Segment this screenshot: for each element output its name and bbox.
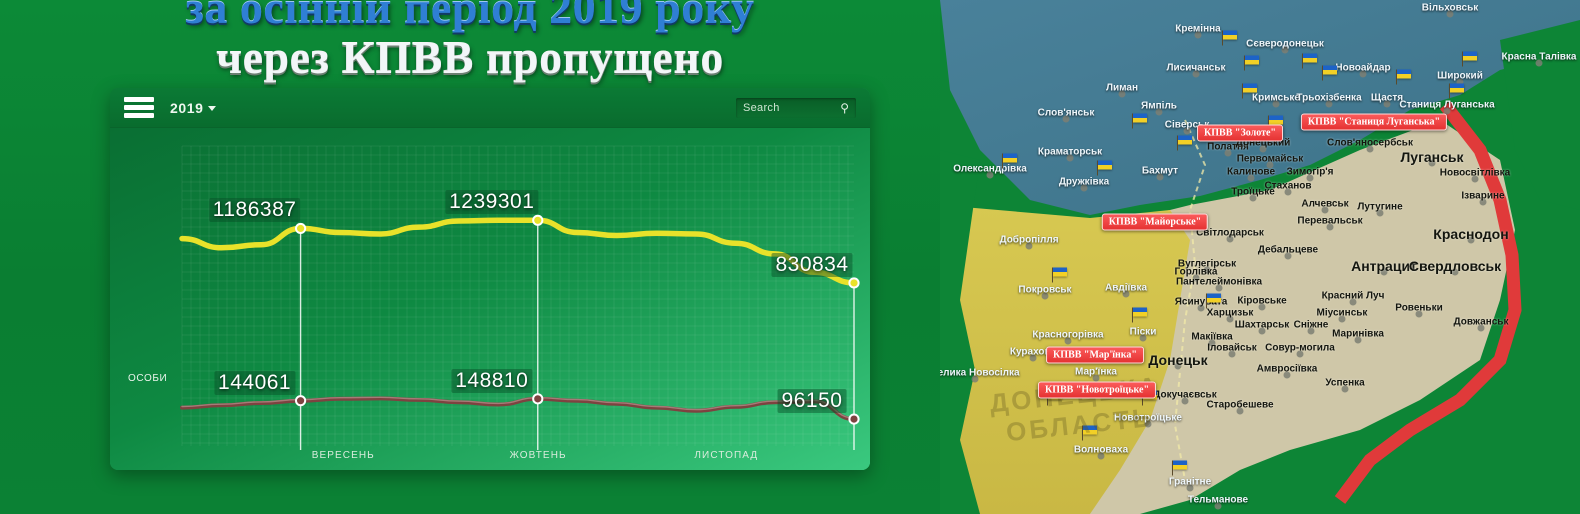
city-label-Слов'яносербськ: Слов'яносербськ <box>1327 138 1413 149</box>
city-label-Красний Луч: Красний Луч <box>1322 291 1385 302</box>
chart-toolbar: 2019 Search ⚲ <box>110 88 870 128</box>
city-label-Добропілля: Добропілля <box>999 235 1058 246</box>
kpvv-marker-4[interactable]: КПВВ "Новотроїцьке" <box>1038 382 1156 399</box>
city-label-Трьохізбенка: Трьохізбенка <box>1296 93 1361 104</box>
left-pane: за осінній період 2019 року через КПВВ п… <box>0 0 940 514</box>
data-label-transport-листопад: 96150 <box>778 389 847 413</box>
city-label-Ямпіль: Ямпіль <box>1141 101 1177 112</box>
ukraine-flag-icon-12 <box>1133 308 1147 317</box>
chart-svg <box>110 128 870 470</box>
city-label-Гранітне: Гранітне <box>1169 477 1211 488</box>
city-label-Новосвітлівка: Новосвітлівка <box>1440 168 1510 179</box>
city-label-Вільховськ: Вільховськ <box>1422 3 1479 14</box>
ukraine-flag-icon-10 <box>1450 84 1464 93</box>
headline-line-1: за осінній період 2019 року <box>0 0 940 30</box>
year-dropdown[interactable]: 2019 <box>170 100 216 116</box>
city-label-Калинове: Калинове <box>1227 167 1275 178</box>
ukraine-flag-icon-15 <box>1207 294 1221 303</box>
city-label-Краснодон: Краснодон <box>1433 226 1508 242</box>
ukraine-flag-icon-1 <box>1303 54 1317 63</box>
city-label-Тельманове: Тельманове <box>1188 495 1248 506</box>
city-label-Красногорівка: Красногорівка <box>1032 330 1103 341</box>
ukraine-flag-icon-14 <box>1173 461 1187 470</box>
ukraine-flag-icon-2 <box>1243 84 1257 93</box>
city-label-Волноваха: Волноваха <box>1074 445 1128 456</box>
city-label-Міусинськ: Міусинськ <box>1317 308 1368 319</box>
city-label-Харцизьк: Харцизьк <box>1207 308 1254 319</box>
city-label-Кремінна: Кремінна <box>1175 24 1220 35</box>
city-label-Широкий: Широкий <box>1437 71 1483 82</box>
city-label-Станиця Луганська: Станиця Луганська <box>1399 100 1494 111</box>
city-label-Ізварине: Ізварине <box>1461 191 1504 202</box>
city-label-Кіровське: Кіровське <box>1237 296 1286 307</box>
chart-card: 2019 Search ⚲ <box>110 88 870 470</box>
chevron-down-icon <box>208 106 216 111</box>
chart-plot-area: ОСОБИ ТРАНСПОРТ ВЕРЕСЕНЬЖОВТЕНЬЛИСТОПАД … <box>110 128 870 470</box>
data-label-persons-листопад: 830834 <box>771 253 852 277</box>
ukraine-flag-icon-7 <box>1003 154 1017 163</box>
city-label-Покровськ: Покровськ <box>1018 285 1071 296</box>
conflict-map: КреміннаСєверодонецькЛисичанськНовоайдар… <box>940 0 1580 514</box>
kpvv-marker-2[interactable]: КПВВ "Майорське" <box>1102 214 1208 231</box>
city-label-Дебальцеве: Дебальцеве <box>1258 245 1318 256</box>
ukraine-flag-icon-17 <box>1463 52 1477 61</box>
search-input[interactable]: Search ⚲ <box>736 98 856 118</box>
city-label-Авдіївка: Авдіївка <box>1105 283 1147 294</box>
city-label-Кримське: Кримське <box>1252 93 1300 104</box>
city-label-Новоайдар: Новоайдар <box>1335 63 1390 74</box>
month-label-1: ЖОВТЕНЬ <box>510 450 567 461</box>
data-label-transport-вересень: 144061 <box>214 371 295 395</box>
kpvv-marker-1[interactable]: КПВВ "Станиця Луганська" <box>1301 114 1447 131</box>
city-label-Іловайськ: Іловайськ <box>1207 343 1257 354</box>
kpvv-marker-0[interactable]: КПВВ "Золоте" <box>1197 125 1283 142</box>
ukraine-flag-icon-4 <box>1397 70 1411 79</box>
page-title: за осінній період 2019 року через КПВВ п… <box>0 0 940 84</box>
city-label-Свердловськ: Свердловськ <box>1409 258 1501 274</box>
city-label-Лиман: Лиман <box>1106 83 1138 94</box>
city-label-Успенка: Успенка <box>1325 378 1364 389</box>
ukraine-flag-icon-6 <box>1178 136 1192 145</box>
search-icon[interactable]: ⚲ <box>840 101 849 115</box>
city-label-Антрацит: Антрацит <box>1351 258 1417 274</box>
search-placeholder: Search <box>743 102 780 114</box>
data-label-persons-жовтень: 1239301 <box>445 190 538 214</box>
ukraine-flag-icon-8 <box>1098 161 1112 170</box>
city-label-Довжанськ: Довжанськ <box>1454 317 1509 328</box>
city-label-Донецьк: Донецьк <box>1148 352 1207 368</box>
city-label-Первомайськ: Первомайськ <box>1237 154 1304 165</box>
city-label-Красна Талівка: Красна Талівка <box>1502 52 1577 63</box>
city-label-Совур-могила: Совур-могила <box>1265 343 1335 354</box>
city-label-Слов'янськ: Слов'янськ <box>1038 108 1095 119</box>
city-label-Сніжне: Сніжне <box>1294 320 1329 331</box>
city-label-Сєверодонецьк: Сєверодонецьк <box>1246 39 1324 50</box>
kpvv-marker-3[interactable]: КПВВ "Мар'їнка" <box>1046 347 1144 364</box>
ukraine-flag-icon-0 <box>1223 31 1237 40</box>
city-label-Пантелеймонівка: Пантелеймонівка <box>1176 277 1262 288</box>
ukraine-flag-icon-16 <box>1269 116 1283 125</box>
hamburger-menu-icon[interactable] <box>124 97 154 118</box>
month-label-2: ЛИСТОПАД <box>694 450 758 461</box>
city-label-Шахтарськ: Шахтарськ <box>1235 320 1289 331</box>
city-label-Краматорськ: Краматорськ <box>1038 147 1102 158</box>
city-label-Макіївка: Макіївка <box>1191 332 1232 343</box>
city-label-Бахмут: Бахмут <box>1142 166 1178 177</box>
ukraine-flag-icon-5 <box>1133 114 1147 123</box>
month-label-0: ВЕРЕСЕНЬ <box>312 450 375 461</box>
ukraine-flag-icon-3 <box>1323 66 1337 75</box>
year-dropdown-label: 2019 <box>170 100 204 116</box>
city-label-Зимогір'я: Зимогір'я <box>1286 167 1333 178</box>
city-label-Піски: Піски <box>1130 327 1157 338</box>
ukraine-flag-icon-11 <box>1053 268 1067 277</box>
headline-line-2: через КПВВ пропущено <box>0 32 940 84</box>
data-label-persons-вересень: 1186387 <box>209 198 301 222</box>
city-label-Щастя: Щастя <box>1371 93 1403 104</box>
city-label-Перевальськ: Перевальськ <box>1297 216 1362 227</box>
city-label-Маринівка: Маринівка <box>1332 329 1384 340</box>
series-label-persons: ОСОБИ <box>128 373 167 384</box>
city-label-Олександрівка: Олександрівка <box>953 164 1027 175</box>
city-label-Дружківка: Дружківка <box>1059 177 1109 188</box>
ukraine-flag-icon-9 <box>1245 56 1259 65</box>
city-label-Ровеньки: Ровеньки <box>1395 303 1442 314</box>
city-label-Старобешеве: Старобешеве <box>1206 400 1273 411</box>
city-label-Амвросіївка: Амвросіївка <box>1257 364 1318 375</box>
city-label-Велика Новосілка: Велика Новосілка <box>940 368 1020 379</box>
city-label-Луганськ: Луганськ <box>1400 149 1463 165</box>
data-label-transport-жовтень: 148810 <box>451 369 532 393</box>
city-label-Алчевськ: Алчевськ <box>1301 199 1348 210</box>
city-label-Троїцьке: Троїцьке <box>1231 187 1275 198</box>
city-label-Лисичанськ: Лисичанськ <box>1167 63 1226 74</box>
city-label-Лутугине: Лутугине <box>1357 202 1402 213</box>
